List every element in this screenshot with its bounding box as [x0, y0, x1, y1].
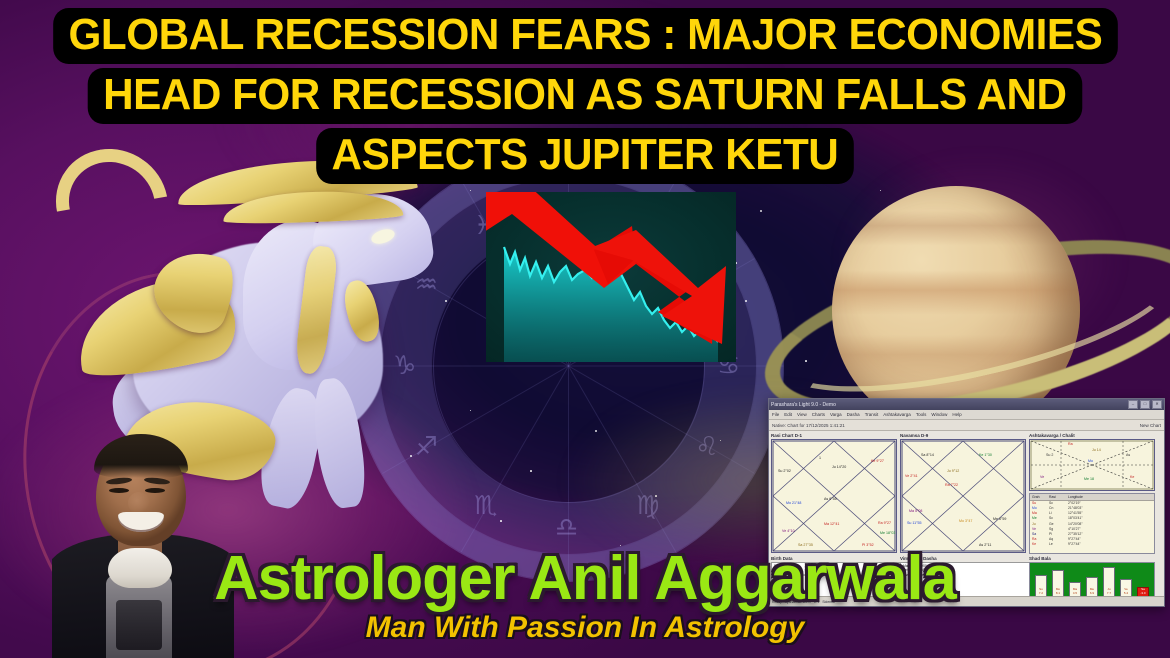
vimsottari-row: Pratyantar Ket 04/01/2027	[903, 573, 1027, 577]
bala-bar-label: Sa-3.0	[1138, 588, 1148, 595]
planet-table-header-cell: Longitude	[1068, 495, 1083, 499]
bala-bar-Ve: Ve5.4	[1120, 579, 1132, 597]
menu-item-tools[interactable]: Tools	[916, 412, 927, 417]
navamsa-label-5: Ma 5°08	[909, 510, 922, 514]
planet-rasi: Ge	[1049, 523, 1065, 526]
planet-rasi: Le	[1049, 543, 1065, 546]
minimize-icon[interactable]: –	[1128, 400, 1138, 409]
bala-bar-label: Me6.9	[1087, 588, 1097, 595]
planet-longitude: 9°27'44"	[1068, 538, 1081, 541]
planet-rasi: Sc	[1049, 502, 1065, 505]
panel-navamsa-label: Navamsa D-9	[900, 433, 1026, 438]
gold-swirl-spiral	[34, 127, 189, 281]
planet-abbr: Mo	[1032, 507, 1046, 510]
planet-abbr: Ju	[1032, 523, 1046, 526]
thumbnail-canvas: ♈♉♊♋♌♍♎♏♐♑♒♓	[0, 0, 1170, 658]
rasi-label-2: Ju 14°20	[832, 466, 846, 470]
planet-rasi: Sc	[1049, 517, 1065, 520]
panel-rasi[interactable]: Rasi Chart D-1 Su 2°021Ju 14°20Ke 9°27Mo…	[771, 433, 897, 554]
akv-label-6: Ve	[1040, 476, 1044, 480]
stock-market-crash-image	[486, 192, 736, 362]
bala-bar-label: Ma4.5	[1070, 588, 1080, 595]
panel-navamsa[interactable]: Navamsa D-9 Sa 8°14Ke 1°30Ve 2°41Ju 9°12…	[900, 433, 1026, 554]
panel-birth-data[interactable]: Birth Data Date 17/12/2025Time 01:41:21P…	[771, 556, 897, 600]
akv-label-7: Me 18	[1084, 478, 1094, 482]
bala-bar-label: Ve5.4	[1121, 588, 1131, 595]
planet-longitude: 18°03'41"	[1068, 517, 1083, 520]
vimsottari-box[interactable]: Maha Sat 17/05/2025Antar Mer 11/09/2026P…	[900, 562, 1030, 600]
bala-bar-Ma: Ma4.5	[1069, 582, 1081, 597]
new-chart-button[interactable]: New Chart	[1140, 423, 1161, 428]
planet-rasi: Li	[1049, 512, 1065, 515]
planet-table-row[interactable]: KeLe9°27'44"	[1030, 543, 1154, 548]
status-bar-item: Sidereal	[822, 600, 834, 604]
menu-item-view[interactable]: View	[797, 412, 807, 417]
panel-vimsottari[interactable]: Vimsottari Dasha Maha Sat 17/05/2025Anta…	[900, 556, 1026, 600]
menu-item-varga[interactable]: Varga	[830, 412, 842, 417]
bala-bar-Ju: Ju7.7	[1103, 567, 1115, 597]
planet-table-header: GrahRasiLongitude	[1030, 494, 1154, 501]
panel-ashtakavarga[interactable]: Ashtakavarga / Chalit Ra	[1029, 433, 1155, 554]
menu-bar[interactable]: FileEditViewChartsVargaDashaTransitAshta…	[769, 410, 1164, 420]
portrait-eye-right	[145, 488, 165, 493]
toolbar[interactable]: Native: Chart for 17/12/2025 1:41:21 New…	[769, 420, 1164, 431]
menu-item-edit[interactable]: Edit	[784, 412, 792, 417]
portrait-tshirt	[106, 576, 172, 658]
planet-rasi: Cn	[1049, 507, 1065, 510]
portrait-eye-left	[109, 488, 129, 493]
portrait-hair	[94, 434, 188, 478]
astrology-software-window[interactable]: Parashara's Light 9.0 - Demo – □ ✕ FileE…	[768, 398, 1165, 607]
navamsa-label-7: Mo 3°47	[959, 520, 972, 524]
rasi-label-8: Ve 4°10	[782, 530, 795, 534]
bala-bar-Mo: Mo8.1	[1052, 570, 1064, 597]
menu-item-charts[interactable]: Charts	[812, 412, 825, 417]
bala-bar-Me: Me6.9	[1086, 577, 1098, 597]
rasi-label-7: Ra 9°27	[878, 522, 891, 526]
planet-longitude: 9°27'44"	[1068, 543, 1081, 546]
akv-label-8: Ke	[1130, 476, 1134, 480]
toolbar-native-label: Native: Chart for 17/12/2025 1:41:21	[772, 423, 845, 428]
menu-item-ashtakavarga[interactable]: Ashtakavarga	[883, 412, 911, 417]
rasi-label-0: Su 2°02	[778, 470, 791, 474]
navamsa-label-6: Su 11°55	[907, 522, 922, 526]
planet-table-body: SuSc2°02'19"MoCn21°48'03"MaLi12°41'55"Me…	[1030, 501, 1154, 548]
window-titlebar[interactable]: Parashara's Light 9.0 - Demo – □ ✕	[769, 399, 1164, 410]
planet-rasi: Pi	[1049, 533, 1065, 536]
planet-abbr: Ke	[1032, 543, 1046, 546]
menu-item-help[interactable]: Help	[952, 412, 961, 417]
rasi-label-10: Sa 27°35	[798, 544, 813, 548]
planet-longitude: 2°02'19"	[1068, 502, 1081, 505]
star	[745, 300, 747, 302]
navamsa-chart[interactable]: Sa 8°14Ke 1°30Ve 2°41Ju 9°12Ra 7°22Ma 5°…	[900, 439, 1026, 553]
navamsa-label-3: Ju 9°12	[947, 470, 959, 474]
navamsa-label-9: As 2°11	[979, 544, 991, 548]
rasi-label-9: Me 18°03	[880, 532, 895, 536]
rasi-label-4: Mo 21°48	[786, 502, 801, 506]
planet-table[interactable]: GrahRasiLongitude SuSc2°02'19"MoCn21°48'…	[1029, 493, 1155, 554]
astrologer-portrait	[52, 430, 234, 658]
planet-abbr: Me	[1032, 517, 1046, 520]
bala-bar-chart[interactable]: Su7.2Mo8.1Ma4.5Me6.9Ju7.7Ve5.4Sa-3.0	[1029, 562, 1155, 598]
maximize-icon[interactable]: □	[1140, 400, 1150, 409]
panel-bala-label: Shad Bala	[1029, 556, 1155, 561]
menu-item-transit[interactable]: Transit	[865, 412, 879, 417]
bala-bar-Su: Su7.2	[1035, 575, 1047, 597]
portrait-nose	[128, 492, 150, 514]
planet-longitude: 27°35'12"	[1068, 533, 1083, 536]
window-body: Rasi Chart D-1 Su 2°021Ju 14°20Ke 9°27Mo…	[769, 431, 1164, 602]
akv-label-5: As	[1126, 454, 1130, 458]
birth-data-box[interactable]: Date 17/12/2025Time 01:41:21Place New De…	[771, 562, 901, 600]
planet-abbr: Su	[1032, 502, 1046, 505]
bottom-row: Birth Data Date 17/12/2025Time 01:41:21P…	[771, 556, 1162, 600]
status-bar-item: Ready	[772, 600, 782, 604]
akv-label-1: Ra	[1068, 443, 1073, 447]
navamsa-label-8: Me 6°59	[993, 518, 1006, 522]
star	[500, 520, 502, 522]
panel-vimsottari-label: Vimsottari Dasha	[900, 556, 1026, 561]
bala-bar-label: Mo8.1	[1053, 588, 1063, 595]
rasi-label-1: 1	[819, 457, 821, 461]
planet-abbr: Ve	[1032, 528, 1046, 531]
rasi-chart-grid	[772, 440, 896, 552]
panel-ashtakavarga-label: Ashtakavarga / Chalit	[1029, 433, 1155, 438]
menu-item-window[interactable]: Window	[931, 412, 947, 417]
charts-row: Rasi Chart D-1 Su 2°021Ju 14°20Ke 9°27Mo…	[771, 433, 1162, 554]
planet-table-header-cell: Rasi	[1049, 495, 1065, 499]
crash-chart-svg	[486, 192, 736, 362]
status-bar-item: D-1	[814, 600, 819, 604]
close-icon[interactable]: ✕	[1152, 400, 1162, 409]
planet-rasi: Sg	[1049, 528, 1065, 531]
bala-bar-label: Ju7.7	[1104, 588, 1114, 595]
window-controls[interactable]: – □ ✕	[1128, 400, 1162, 409]
panel-birth-data-label: Birth Data	[771, 556, 897, 561]
rasi-label-11: Pl 3°52	[862, 544, 874, 548]
planet-longitude: 14°20'08"	[1068, 523, 1083, 526]
planet-abbr: Ra	[1032, 538, 1046, 541]
planet-rasi: Aq	[1049, 538, 1065, 541]
portrait-tshirt-print	[116, 600, 162, 650]
planet-table-header-cell: Grah	[1032, 495, 1046, 499]
star	[590, 140, 592, 142]
status-bar-item: Ayanamsa: Lahiri	[785, 600, 811, 604]
panel-rasi-label: Rasi Chart D-1	[771, 433, 897, 438]
planet-longitude: 4°10'27"	[1068, 528, 1081, 531]
navamsa-label-4: Ra 7°22	[945, 484, 958, 488]
menu-item-dasha[interactable]: Dasha	[847, 412, 860, 417]
akv-label-4: Su 2	[1046, 454, 1053, 458]
navamsa-chart-grid	[901, 440, 1025, 552]
panel-bala[interactable]: Shad Bala Su7.2Mo8.1Ma4.5Me6.9Ju7.7Ve5.4…	[1029, 556, 1155, 600]
planet-abbr: Ma	[1032, 512, 1046, 515]
bala-bar-label: Su7.2	[1036, 588, 1046, 595]
menu-item-file[interactable]: File	[772, 412, 779, 417]
rasi-label-6: Ma 12°41	[824, 523, 839, 527]
akv-label-3: Mo	[1088, 460, 1093, 464]
akv-label-2: Ju 14	[1092, 449, 1101, 453]
navamsa-label-0: Sa 8°14	[921, 454, 934, 458]
rasi-label-5: As 6°55	[824, 498, 837, 502]
planet-longitude: 12°41'55"	[1068, 512, 1083, 515]
planet-abbr: Sa	[1032, 533, 1046, 536]
birth-data-row: Place New Delhi, India	[774, 573, 898, 577]
rasi-label-3: Ke 9°27	[871, 460, 884, 464]
planet-longitude: 21°48'03"	[1068, 507, 1083, 510]
rasi-chart[interactable]: Su 2°021Ju 14°20Ke 9°27Mo 21°48As 6°55Ma…	[771, 439, 897, 553]
status-bar: ReadyAyanamsa: LahiriD-1Sidereal	[769, 596, 1164, 606]
navamsa-label-1: Ke 1°30	[979, 454, 992, 458]
ashtakavarga-chart[interactable]: Ra Ju 14 Mo Su 2 As Ve Me 18 Ke	[1029, 439, 1155, 491]
portrait-turtleneck	[108, 548, 172, 588]
window-title: Parashara's Light 9.0 - Demo	[771, 402, 1126, 408]
navamsa-label-2: Ve 2°41	[905, 475, 918, 479]
